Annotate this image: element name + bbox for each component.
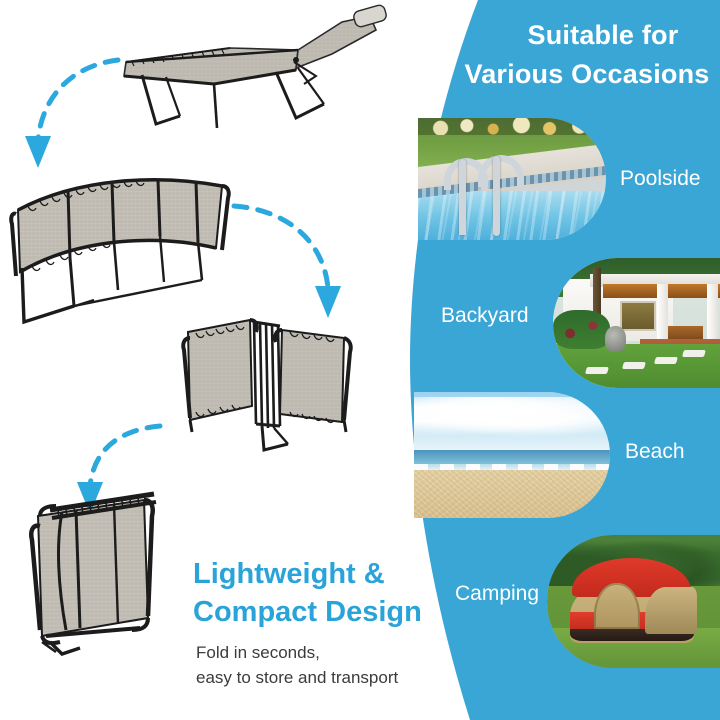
lightweight-subtext-line1: Fold in seconds, — [196, 641, 446, 666]
backyard-pillar-2 — [707, 284, 719, 346]
backyard-stepping-stone-2 — [622, 362, 646, 369]
curved-dashed-arrow-1-icon — [18, 52, 128, 172]
infographic-page: Suitable for Various Occasions Poolside — [0, 0, 720, 720]
panel-heading-line2: Various Occasions — [455, 55, 717, 94]
camping-photo — [547, 535, 720, 668]
lightweight-headline-line1: Lightweight & — [193, 556, 443, 594]
backyard-photo — [553, 258, 720, 388]
panel-heading: Suitable for Various Occasions — [455, 16, 717, 94]
product-stage-1-open — [118, 6, 408, 136]
backyard-stone-urn — [605, 326, 627, 352]
pool-water — [418, 191, 606, 240]
pool-ladder-rail-left — [459, 159, 466, 235]
occasion-label-camping: Camping — [455, 582, 539, 606]
lightweight-subtext-line2: easy to store and transport — [196, 666, 446, 691]
tent-vestibule — [645, 587, 696, 635]
lightweight-headline: Lightweight & Compact Design — [193, 556, 443, 631]
lightweight-subtext: Fold in seconds, easy to store and trans… — [196, 641, 446, 690]
lightweight-headline-line2: Compact Design — [193, 594, 443, 632]
pool-ladder-rail-right — [493, 156, 500, 237]
backyard-pillar-1 — [657, 284, 669, 346]
backyard-wall-art — [620, 301, 656, 331]
occasion-label-beach: Beach — [625, 440, 685, 464]
backyard-shrub — [553, 310, 610, 349]
occasion-label-poolside: Poolside — [620, 167, 701, 191]
poolside-photo — [418, 118, 606, 240]
pool-flowerbed — [418, 118, 606, 135]
beach-sand — [414, 470, 610, 518]
beach-clouds — [414, 397, 610, 440]
occasion-label-backyard: Backyard — [441, 304, 529, 328]
camping-tent — [564, 558, 699, 643]
backyard-stepping-stone-3 — [654, 357, 678, 364]
product-stage-4-compact — [22, 482, 192, 662]
backyard-stepping-stone-4 — [682, 350, 706, 357]
product-stage-3-folding — [178, 308, 378, 458]
panel-heading-line1: Suitable for — [455, 16, 717, 55]
beach-photo — [414, 392, 610, 518]
backyard-stepping-stone-1 — [585, 367, 609, 374]
curved-dashed-arrow-2-icon — [228, 196, 348, 326]
